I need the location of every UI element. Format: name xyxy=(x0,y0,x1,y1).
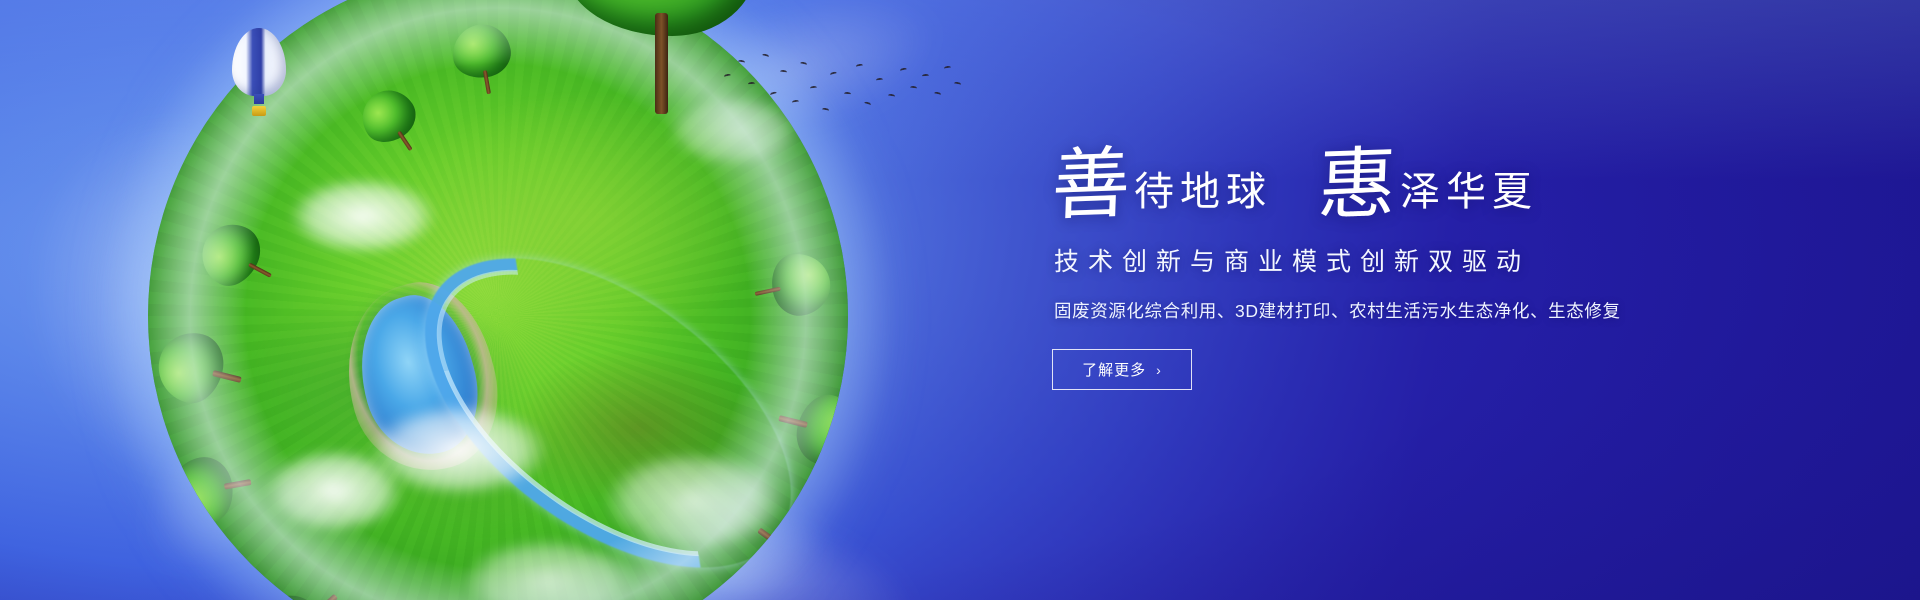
headline-rest-chars-2: 泽华夏 xyxy=(1400,172,1538,212)
subheadline: 技术创新与商业模式创新双驱动 xyxy=(1054,242,1692,278)
learn-more-button[interactable]: 了解更多 › xyxy=(1052,349,1192,390)
hero-copy: 善 待地球 惠 泽华夏 技术创新与商业模式创新双驱动 固废资源化综合利用、3D建… xyxy=(1052,150,1692,390)
chevron-right-icon: › xyxy=(1156,362,1162,378)
headline: 善 待地球 惠 泽华夏 xyxy=(1052,150,1692,220)
headline-lead-char-2: 惠 xyxy=(1317,149,1398,222)
headline-lead-char-1: 善 xyxy=(1051,149,1132,222)
learn-more-label: 了解更多 xyxy=(1082,359,1146,380)
headline-rest-chars-1: 待地球 xyxy=(1134,172,1272,212)
hero-banner: 善 待地球 惠 泽华夏 技术创新与商业模式创新双驱动 固废资源化综合利用、3D建… xyxy=(0,0,1920,600)
tagline: 固废资源化综合利用、3D建材打印、农村生活污水生态净化、生态修复 xyxy=(1054,298,1692,323)
